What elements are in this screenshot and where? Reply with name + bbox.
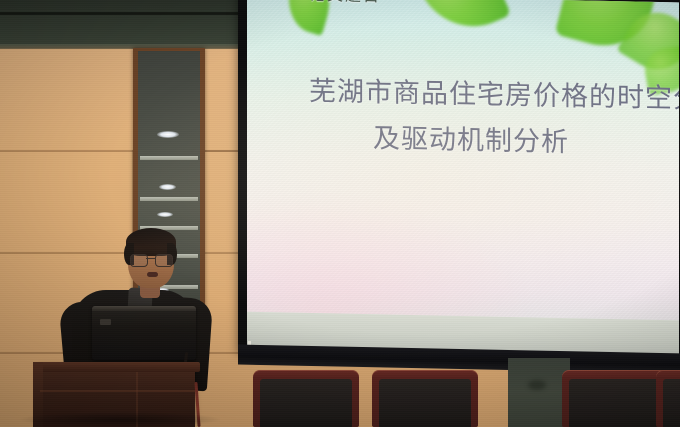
laptop-screen-lip: [92, 306, 196, 311]
leaf-decoration-icon: [279, 0, 338, 36]
chair-upholstery: [569, 379, 661, 427]
glasses-bridge: [146, 258, 155, 259]
ceiling-band: [0, 0, 250, 48]
podium-floor-shadow: [20, 412, 220, 427]
projection-screen-surface: 论文题目 芜湖市商品住宅房价格的时空分布 及驱动机制分析: [247, 0, 679, 354]
photograph-conference-presentation: 论文题目 芜湖市商品住宅房价格的时空分布 及驱动机制分析: [0, 0, 680, 427]
speaker-glasses-icon: [129, 254, 173, 265]
ceiling-light-reflection: [157, 212, 173, 217]
speaker-mouth: [147, 272, 158, 277]
slide-title: 芜湖市商品住宅房价格的时空分布 及驱动机制分析: [247, 68, 679, 169]
ceiling-light-reflection: [157, 131, 179, 138]
hall-column: [508, 358, 570, 427]
niche-shelf: [140, 197, 198, 201]
laptop-on-podium: [92, 306, 196, 360]
chair-upholstery: [260, 379, 352, 427]
glasses-lens-left: [130, 254, 148, 267]
podium-seam: [40, 390, 195, 392]
column-smudge: [528, 380, 546, 390]
leaf-decoration-icon: [413, 0, 512, 43]
slide-title-line-2: 及驱动机制分析: [247, 114, 679, 169]
presentation-slide: 论文题目 芜湖市商品住宅房价格的时空分布 及驱动机制分析: [247, 0, 679, 320]
audience-chair: [656, 370, 680, 427]
audience-chair: [372, 370, 478, 427]
chair-backrest-frame: [562, 370, 668, 427]
projection-screen-frame: 论文题目 芜湖市商品住宅房价格的时空分布 及驱动机制分析: [238, 0, 680, 361]
ceiling-edge: [0, 44, 250, 49]
audience-chair: [562, 370, 668, 427]
niche-shelf: [140, 156, 198, 160]
chair-upholstery: [379, 379, 471, 427]
chair-backrest-frame: [253, 370, 359, 427]
glasses-lens-right: [155, 254, 173, 267]
wall-panel-seam: [0, 252, 135, 254]
chair-upholstery: [663, 379, 680, 427]
ceiling-light-reflection: [159, 184, 176, 190]
laptop-logo: [100, 319, 111, 325]
slide-title-line-1: 芜湖市商品住宅房价格的时空分布: [247, 68, 679, 123]
ceiling-trim-line: [0, 12, 250, 15]
audience-chair: [253, 370, 359, 427]
podium-top-ledge: [35, 362, 200, 372]
chair-backrest-frame: [656, 370, 680, 427]
chair-backrest-frame: [372, 370, 478, 427]
